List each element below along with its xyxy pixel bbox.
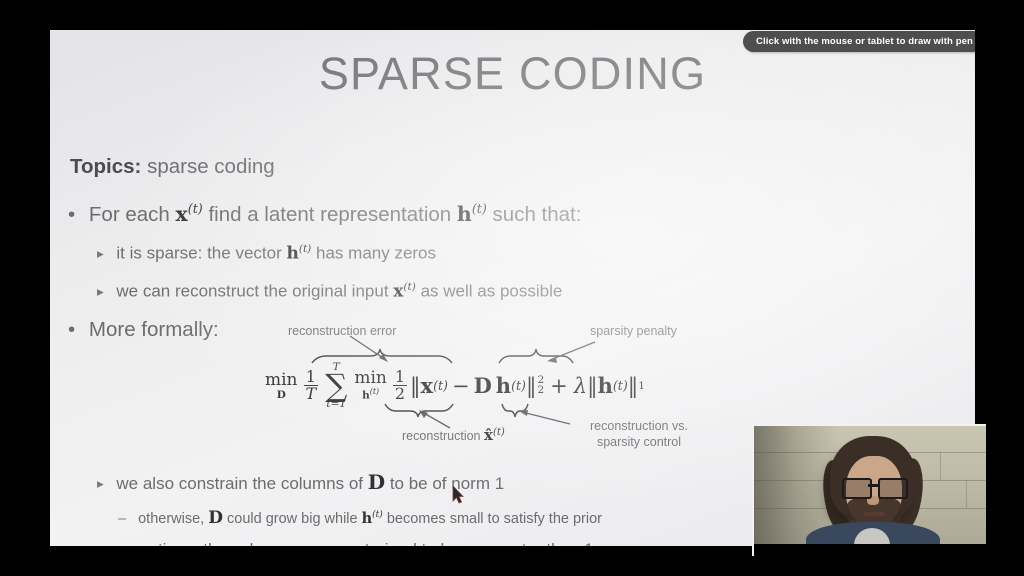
- equation-plus: +: [550, 374, 568, 398]
- bullet-4-text: More formally:: [89, 318, 219, 341]
- bullet-for-each: For each x(t) find a latent representati…: [68, 201, 581, 227]
- math-h-3-sup: (t): [372, 510, 383, 520]
- equation-x: x: [421, 373, 434, 398]
- math-xhat: x̂: [484, 426, 493, 444]
- equation-h-2: h: [598, 373, 613, 398]
- bullet-2-post: has many zeros: [311, 244, 436, 263]
- norm-1-subscript: 2: [537, 386, 544, 396]
- topics-label: Topics:: [70, 155, 141, 178]
- bullet-constrain-columns: we also constrain the columns of D to be…: [97, 470, 504, 494]
- fraction-one-half: 1 2: [393, 369, 407, 403]
- math-D-2: D: [208, 508, 223, 528]
- bullet-5-post: to be of norm 1: [385, 474, 504, 493]
- bullet-more-formally: More formally:: [68, 318, 219, 342]
- topics-line: Topics: sparse coding: [70, 155, 275, 179]
- min-over-h: min h(t): [354, 370, 387, 401]
- annotation-sparsity-penalty: sparsity penalty: [590, 324, 677, 340]
- glasses-lens-right: [878, 478, 908, 499]
- bullet-otherwise-grow-big: otherwise, D could grow big while h(t) b…: [118, 508, 602, 528]
- math-x-2: x: [393, 282, 403, 302]
- presenter-glasses: [842, 478, 906, 495]
- norm-open-2: ‖: [587, 374, 598, 398]
- math-h-3: h: [362, 510, 373, 527]
- bullet-no-greater-than-one: sometimes the columns are constrained to…: [97, 540, 594, 546]
- annotation-tradeoff: reconstruction vs. sparsity control: [590, 419, 688, 450]
- norm-1-exponents: 2 2: [537, 376, 544, 396]
- math-h-2: h: [286, 244, 298, 264]
- bullet-1-post: such that:: [487, 203, 582, 226]
- summation-lower-limit: t=1: [326, 399, 346, 410]
- bullet-2-pre: it is sparse: the vector: [116, 244, 286, 263]
- annotation-reconstruction: reconstruction x̂(t): [402, 426, 505, 445]
- fraction-one-over-T: 1 T: [304, 369, 319, 403]
- min2-subscript: h(t): [362, 388, 379, 401]
- min2-sub-sup: (t): [370, 387, 379, 396]
- annotation-reconstruction-error: reconstruction error: [288, 324, 396, 340]
- equation-minus: −: [452, 374, 470, 398]
- bullet-7-text: sometimes the columns are constrained to…: [116, 540, 593, 546]
- screen-recording-frame: SPARSE CODING Topics: sparse coding For …: [0, 0, 1024, 576]
- summation: T ∑ t=1: [324, 362, 348, 410]
- presenter-mouth: [864, 512, 884, 516]
- min-operator: min: [265, 372, 298, 389]
- bullet-reconstruct-input: we can reconstruct the original input x(…: [97, 281, 562, 302]
- math-xhat-sup: (t): [493, 427, 505, 438]
- wall-line: [966, 480, 967, 508]
- mouse-cursor: [452, 486, 464, 504]
- math-h-1-sup: (t): [472, 201, 487, 216]
- equation-row: min D 1 T T ∑ t=1 min h(t) 1: [262, 362, 645, 410]
- topics-value: sparse coding: [147, 155, 275, 178]
- fraction2-denominator: 2: [393, 386, 407, 402]
- math-h-1: h: [457, 202, 472, 226]
- bullet-6-pre: otherwise,: [138, 511, 208, 527]
- objective-equation: min D 1 T T ∑ t=1 min h(t) 1: [210, 352, 770, 418]
- annotation-tradeoff-line1: reconstruction vs.: [590, 419, 688, 435]
- min-over-D: min D: [265, 372, 298, 401]
- annotation-reconstruction-label: reconstruction: [402, 429, 481, 443]
- fraction-denominator-T: T: [304, 386, 319, 402]
- equation-x-sup: (t): [433, 378, 448, 393]
- equation-h-1-sup: (t): [511, 378, 526, 393]
- equation-lambda: λ: [574, 374, 587, 398]
- min-subscript-D: D: [277, 390, 286, 401]
- math-x-2-sup: (t): [403, 281, 415, 293]
- bullet-6-post: becomes small to satisfy the prior: [383, 511, 602, 527]
- sigma-glyph: ∑: [325, 374, 347, 399]
- annotation-tradeoff-line2: sparsity control: [590, 435, 688, 451]
- norm-open-1: ‖: [410, 374, 421, 398]
- bullet-1-pre: For each: [89, 203, 176, 226]
- wall-line: [940, 452, 941, 480]
- equation-h-1: h: [496, 373, 511, 398]
- glasses-lens-left: [842, 478, 872, 499]
- math-x-1: x: [176, 202, 188, 226]
- pen-mode-tooltip: Click with the mouse or tablet to draw w…: [743, 31, 975, 52]
- equation-h-2-sup: (t): [613, 378, 628, 393]
- bullet-6-mid: could grow big while: [223, 511, 362, 527]
- norm-close-1: ‖: [526, 374, 537, 398]
- bullet-sparse-vector: it is sparse: the vector h(t) has many z…: [97, 243, 436, 264]
- min2-sub-h: h: [362, 390, 370, 402]
- bullet-3-pre: we can reconstruct the original input: [116, 282, 393, 301]
- norm-close-2: ‖: [628, 374, 639, 398]
- bullet-3-post: as well as possible: [416, 282, 562, 301]
- page-title: SPARSE CODING: [50, 48, 975, 100]
- math-x-1-sup: (t): [188, 201, 203, 216]
- presenter-webcam[interactable]: [752, 424, 986, 556]
- norm-2-subscript: 1: [638, 380, 645, 392]
- math-h-2-sup: (t): [299, 243, 311, 255]
- equation-D: D: [474, 373, 492, 398]
- bullet-1-mid: find a latent representation: [203, 203, 457, 226]
- min2-operator: min: [354, 370, 387, 387]
- math-D-1: D: [368, 470, 385, 494]
- bullet-5-pre: we also constrain the columns of: [116, 474, 367, 493]
- cursor-arrow-icon: [453, 486, 463, 503]
- webcam-letterbox: [754, 544, 986, 556]
